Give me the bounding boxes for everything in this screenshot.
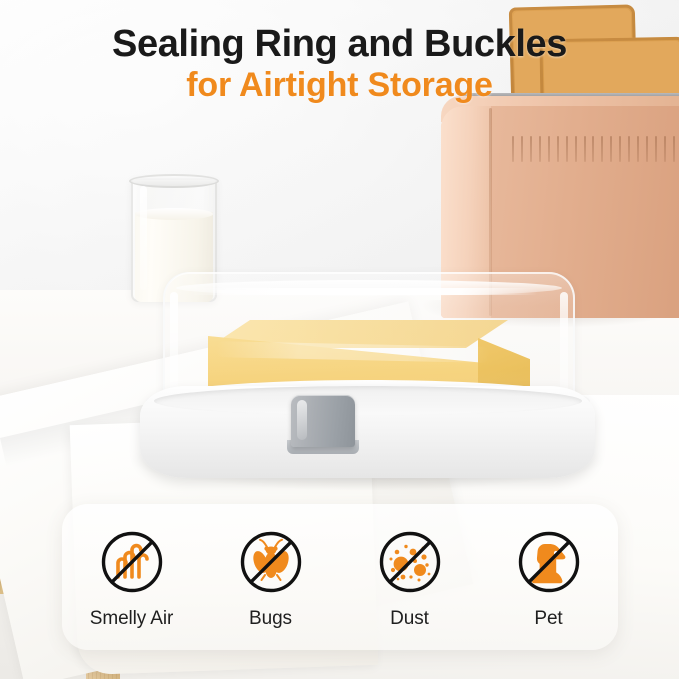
badge-smelly-air: Smelly Air — [69, 525, 195, 630]
headline-line-1: Sealing Ring and Buckles — [0, 24, 679, 65]
badge-label: Dust — [347, 608, 473, 630]
lid-gloss-highlight — [188, 288, 538, 295]
bug-icon — [234, 525, 308, 599]
badge-label: Smelly Air — [69, 608, 195, 630]
lid-right-highlight — [560, 292, 568, 402]
glass-highlight — [140, 186, 147, 290]
badge-label: Pet — [486, 608, 612, 630]
badge-pet: Pet — [486, 525, 612, 630]
badge-label: Bugs — [208, 608, 334, 630]
headline-block: Sealing Ring and Buckles for Airtight St… — [0, 24, 679, 105]
buckle-highlight — [297, 400, 307, 440]
toaster-vent-slots — [512, 136, 679, 162]
badge-bugs: Bugs — [208, 525, 334, 630]
smelly-air-icon — [95, 525, 169, 599]
headline-line-2: for Airtight Storage — [0, 65, 679, 105]
product-feature-image: Sealing Ring and Buckles for Airtight St… — [0, 0, 679, 679]
dust-icon — [373, 525, 447, 599]
feature-badge-panel: Smelly Air — [62, 504, 618, 650]
butter-dish-lip — [154, 386, 582, 416]
badge-dust: Dust — [347, 525, 473, 630]
pet-icon — [512, 525, 586, 599]
